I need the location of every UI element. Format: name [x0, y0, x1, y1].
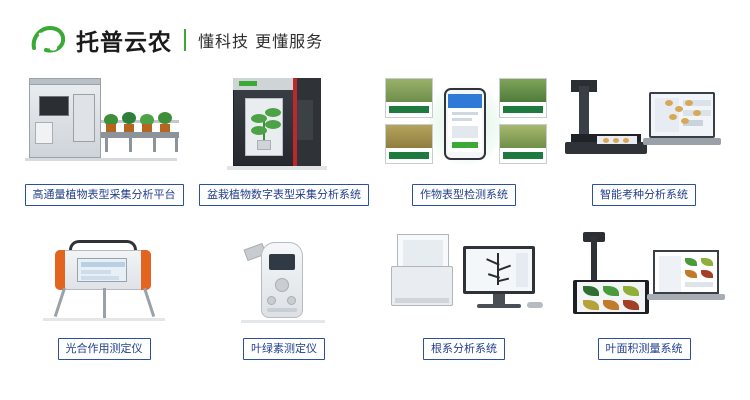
product-image-potted-plant-digital-phenotype-system [197, 70, 371, 178]
product-caption: 根系分析系统 [423, 338, 505, 360]
product-caption: 盆栽植物数字表型采集分析系统 [199, 184, 369, 206]
product-image-intelligent-seed-test-analysis-system [557, 70, 731, 178]
product-card-potted-plant-digital-phenotype-system[interactable]: 盆栽植物数字表型采集分析系统 [194, 70, 374, 206]
product-catalog-page: 托普云农 懂科技 更懂服务 [0, 0, 750, 400]
product-image-leaf-area-measuring-system [557, 224, 731, 332]
product-caption: 叶面积测量系统 [598, 338, 691, 360]
tp-logo-icon [28, 22, 68, 58]
product-image-root-analysis-system [377, 224, 551, 332]
product-caption: 高通量植物表型采集分析平台 [25, 184, 184, 206]
product-caption: 智能考种分析系统 [592, 184, 696, 206]
product-card-high-throughput-plant-phenotype-platform[interactable]: 高通量植物表型采集分析平台 [14, 70, 194, 206]
product-image-photosynthesis-measuring-instrument [17, 224, 191, 332]
product-image-high-throughput-plant-phenotype-platform [17, 70, 191, 178]
product-card-root-analysis-system[interactable]: 根系分析系统 [374, 224, 554, 360]
product-card-chlorophyll-meter[interactable]: 叶绿素测定仪 [194, 224, 374, 360]
product-grid: 高通量植物表型采集分析平台 [14, 70, 736, 378]
brand-slogan: 懂科技 更懂服务 [198, 28, 323, 52]
product-card-crop-phenotype-detection-system[interactable]: 作物表型检测系统 [374, 70, 554, 206]
product-caption: 叶绿素测定仪 [243, 338, 325, 360]
product-card-leaf-area-measuring-system[interactable]: 叶面积测量系统 [554, 224, 734, 360]
product-caption: 作物表型检测系统 [412, 184, 516, 206]
product-caption: 光合作用测定仪 [58, 338, 151, 360]
product-image-crop-phenotype-detection-system [377, 70, 551, 178]
brand-name: 托普云农 [76, 23, 172, 57]
product-card-intelligent-seed-test-analysis-system[interactable]: 智能考种分析系统 [554, 70, 734, 206]
header-divider [184, 29, 186, 51]
brand-header: 托普云农 懂科技 更懂服务 [28, 20, 323, 60]
product-card-photosynthesis-measuring-instrument[interactable]: 光合作用测定仪 [14, 224, 194, 360]
product-image-chlorophyll-meter [197, 224, 371, 332]
